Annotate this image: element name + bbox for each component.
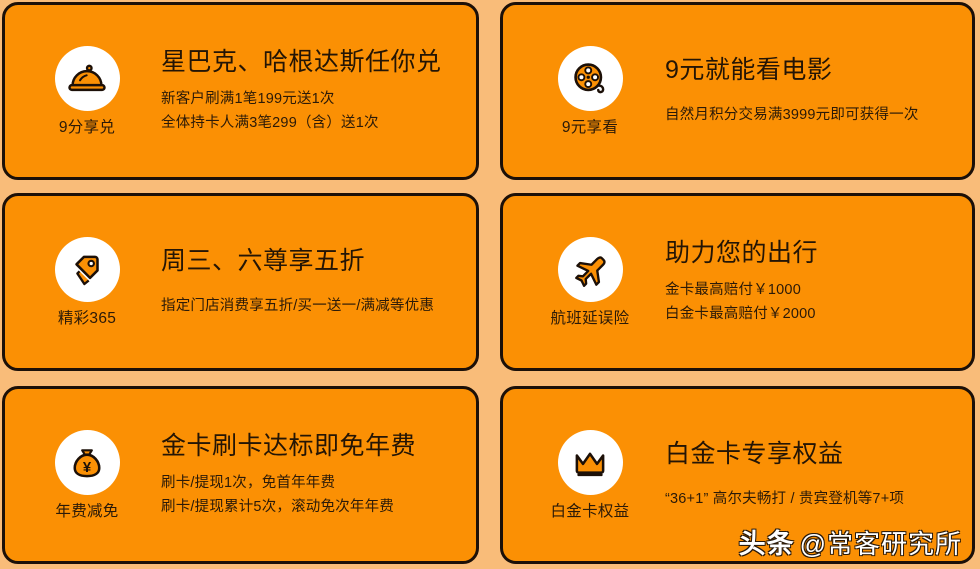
crown-icon	[558, 430, 623, 495]
card-text: 星巴克、哈根达斯任你兑 新客户刷满1笔199元送1次 全体持卡人满3笔299（含…	[161, 48, 476, 133]
card-line: “36+1” 高尔夫畅打 / 贵宾登机等7+项	[665, 490, 960, 508]
card-description: 新客户刷满1笔199元送1次 全体持卡人满3笔299（含）送1次	[161, 90, 464, 132]
benefits-grid: 9分享兑 星巴克、哈根达斯任你兑 新客户刷满1笔199元送1次 全体持卡人满3笔…	[0, 0, 980, 569]
card-title: 周三、六尊享五折	[161, 247, 464, 276]
card-line: 全体持卡人满3笔299（含）送1次	[161, 114, 464, 132]
card-title: 星巴克、哈根达斯任你兑	[161, 48, 464, 77]
svg-text:¥: ¥	[83, 460, 92, 476]
card-label: 精彩365	[58, 311, 116, 327]
benefit-card-annual-fee-waiver[interactable]: ¥ 年费减免 金卡刷卡达标即免年费 刷卡/提现1次，免首年年费 刷卡/提现累计5…	[2, 386, 479, 564]
card-badge: 精彩365	[13, 237, 161, 327]
card-badge: 9分享兑	[13, 46, 161, 136]
card-description: 金卡最高赔付￥1000 白金卡最高赔付￥2000	[665, 281, 960, 323]
card-badge: 航班延误险	[515, 237, 665, 327]
card-line: 刷卡/提现累计5次，滚动免次年年费	[161, 498, 464, 516]
card-text: 助力您的出行 金卡最高赔付￥1000 白金卡最高赔付￥2000	[665, 239, 972, 324]
airplane-icon	[558, 237, 623, 302]
benefit-card-9fen-xiangdui[interactable]: 9分享兑 星巴克、哈根达斯任你兑 新客户刷满1笔199元送1次 全体持卡人满3笔…	[2, 2, 479, 180]
card-title: 助力您的出行	[665, 239, 960, 268]
card-description: 自然月积分交易满3999元即可获得一次	[665, 106, 960, 124]
card-line: 金卡最高赔付￥1000	[665, 281, 960, 299]
benefit-card-jingcai365[interactable]: 精彩365 周三、六尊享五折 指定门店消费享五折/买一送一/满减等优惠	[2, 193, 479, 371]
card-title: 9元就能看电影	[665, 56, 960, 85]
film-reel-icon	[558, 46, 623, 111]
card-line: 白金卡最高赔付￥2000	[665, 305, 960, 323]
benefit-card-flight-delay[interactable]: 航班延误险 助力您的出行 金卡最高赔付￥1000 白金卡最高赔付￥2000	[500, 193, 975, 371]
card-line: 自然月积分交易满3999元即可获得一次	[665, 106, 960, 124]
money-bag-icon: ¥	[55, 430, 120, 495]
card-description: 指定门店消费享五折/买一送一/满减等优惠	[161, 297, 464, 315]
card-label: 白金卡权益	[550, 504, 629, 520]
card-line: 刷卡/提现1次，免首年年费	[161, 474, 464, 492]
card-label: 9分享兑	[59, 120, 115, 136]
card-text: 9元就能看电影 自然月积分交易满3999元即可获得一次	[665, 56, 972, 125]
card-label: 9元享看	[562, 120, 618, 136]
card-title: 金卡刷卡达标即免年费	[161, 432, 464, 461]
card-text: 白金卡专享权益 “36+1” 高尔夫畅打 / 贵宾登机等7+项	[665, 440, 972, 509]
price-tag-icon	[55, 237, 120, 302]
card-line: 新客户刷满1笔199元送1次	[161, 90, 464, 108]
benefit-card-9yuan-xiangkan[interactable]: 9元享看 9元就能看电影 自然月积分交易满3999元即可获得一次	[500, 2, 975, 180]
card-title: 白金卡专享权益	[665, 440, 960, 469]
card-text: 周三、六尊享五折 指定门店消费享五折/买一送一/满减等优惠	[161, 247, 476, 316]
card-label: 年费减免	[55, 504, 118, 520]
card-badge: 9元享看	[515, 46, 665, 136]
food-cloche-icon	[55, 46, 120, 111]
card-badge: 白金卡权益	[515, 430, 665, 520]
card-label: 航班延误险	[550, 311, 629, 327]
card-description: 刷卡/提现1次，免首年年费 刷卡/提现累计5次，滚动免次年年费	[161, 474, 464, 516]
card-text: 金卡刷卡达标即免年费 刷卡/提现1次，免首年年费 刷卡/提现累计5次，滚动免次年…	[161, 432, 476, 517]
card-badge: ¥ 年费减免	[13, 430, 161, 520]
benefit-card-platinum-privileges[interactable]: 白金卡权益 白金卡专享权益 “36+1” 高尔夫畅打 / 贵宾登机等7+项	[500, 386, 975, 564]
card-line: 指定门店消费享五折/买一送一/满减等优惠	[161, 297, 464, 315]
card-description: “36+1” 高尔夫畅打 / 贵宾登机等7+项	[665, 490, 960, 508]
